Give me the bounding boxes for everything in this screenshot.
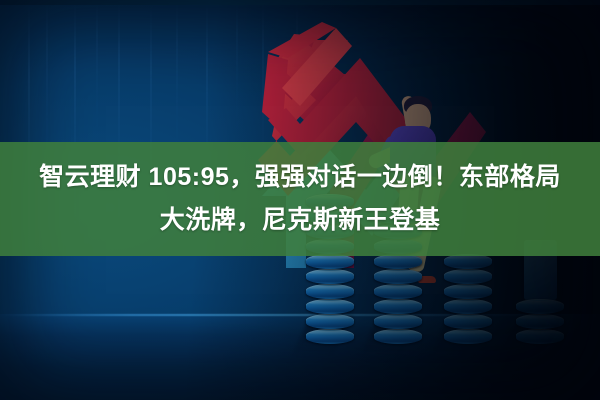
caption-line-2: 大洗牌，尼克斯新王登基 [160,199,441,242]
caption-band: 智云理财 105:95，强强对话一边倒！东部格局 大洗牌，尼克斯新王登基 [0,142,600,256]
thumbnail-image: 智云理财 105:95，强强对话一边倒！东部格局 大洗牌，尼克斯新王登基 [0,0,600,400]
caption-line-1: 智云理财 105:95，强强对话一边倒！东部格局 [39,156,561,199]
